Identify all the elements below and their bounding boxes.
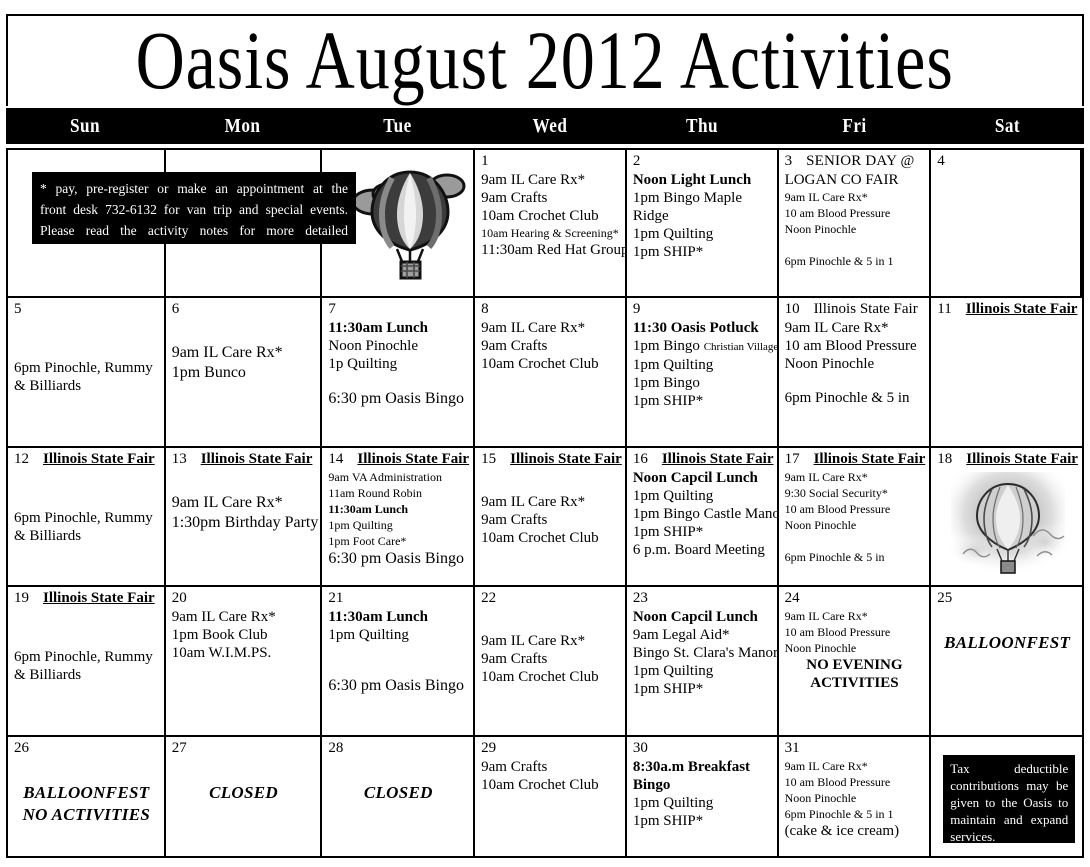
event-spacer — [328, 373, 468, 389]
day-cell-19[interactable]: 19 Illinois State Fair 6pm Pinochle, Rum… — [8, 587, 166, 735]
day-cell-28[interactable]: 28 CLOSED — [322, 737, 475, 856]
day-number: 30 — [633, 740, 648, 757]
day-events-list: BALLOONFEST NO ACTIVITIES — [14, 782, 159, 826]
day-cell-30[interactable]: 30 8:30a.m Breakfast Bingo 1pm Quilting … — [627, 737, 779, 856]
day-events-list: 11:30 Oasis Potluck 1pm Bingo Christian … — [633, 319, 772, 410]
event-item: 10am Crochet Club — [481, 207, 620, 225]
day-number: 20 — [172, 590, 187, 607]
day-events-list: CLOSED — [328, 782, 468, 804]
day-cell-25[interactable]: 25 BALLOONFEST — [931, 587, 1082, 735]
calendar-grid: 1 9am IL Care Rx* 9am Crafts 10am Croche… — [6, 148, 1084, 858]
event-item: 1pm Bingo — [633, 374, 772, 392]
day-events-list: 6pm Pinochle, Rummy & Billiards — [14, 648, 159, 684]
event-item: 9am VA Administration — [328, 469, 468, 485]
day-events-list: 8:30a.m Breakfast Bingo 1pm Quilting 1pm… — [633, 758, 772, 830]
event-spacer — [328, 644, 468, 660]
day-events-list: 11:30am Lunch 1pm Quilting 6:30 pm Oasis… — [328, 608, 468, 696]
note-line: front desk 732-6132 for van trip and spe… — [40, 199, 348, 220]
event-item: 9am IL Care Rx* — [785, 319, 925, 337]
event-text-bingo: 1pm Bingo — [633, 338, 704, 354]
hot-air-balloon-sketch-icon — [945, 468, 1071, 580]
event-item: 9am Crafts — [481, 511, 620, 529]
event-text-venue: Christian Village — [704, 341, 779, 353]
event-item: 6pm Pinochle, Rummy — [14, 509, 159, 527]
calendar-week-row: 26 BALLOONFEST NO ACTIVITIES 27 CLOSED — [8, 737, 1082, 856]
day-number: 9 — [633, 301, 641, 318]
day-headline: Illinois State Fair — [966, 301, 1078, 318]
day-events-list: 9am IL Care Rx* 1pm Bunco — [172, 343, 316, 383]
tax-note-line: Tax deductible — [950, 760, 1068, 777]
day-events-list: CLOSED — [172, 782, 316, 804]
day-number: 16 — [633, 451, 648, 468]
day-events-list: Noon Capcil Lunch 9am Legal Aid* Bingo S… — [633, 608, 772, 698]
weekday-header-thu: Thu — [637, 108, 768, 144]
event-item: 11:30am Lunch — [328, 319, 468, 337]
weekday-header-sun: Sun — [17, 108, 153, 144]
tax-note-line: maintain and expand — [950, 811, 1068, 828]
event-item: 9am IL Care Rx* — [481, 632, 620, 650]
day-headline: Illinois State Fair — [814, 451, 926, 468]
day-number: 8 — [481, 301, 489, 318]
tax-note-line: contributions may be — [950, 777, 1068, 794]
day-events-list: 9am VA Administration 11am Round Robin 1… — [328, 469, 468, 569]
weekday-header-mon: Mon — [175, 108, 310, 144]
event-item: 9am IL Care Rx* — [481, 493, 620, 511]
day-headline: Illinois State Fair — [510, 451, 622, 468]
event-item: 1pm Bunco — [172, 363, 316, 383]
event-item: 6:30 pm Oasis Bingo — [328, 676, 468, 696]
tax-note-line: given to the Oasis to — [950, 794, 1068, 811]
day-events-list: 9am IL Care Rx* 1pm Book Club 10am W.I.M… — [172, 608, 316, 662]
day-cell-11[interactable]: 11 Illinois State Fair — [931, 298, 1082, 446]
day-number: 23 — [633, 590, 648, 607]
weekday-header-row: Sun Mon Tue Wed Thu Fri Sat — [6, 108, 1084, 144]
event-item: 1pm Quilting — [633, 356, 772, 374]
weekday-header-sat: Sat — [942, 108, 1074, 144]
day-cell-6[interactable]: 6 9am IL Care Rx* 1pm Bunco — [166, 298, 323, 446]
event-item: (cake & ice cream) — [785, 822, 925, 840]
event-item: Noon Pinochle — [785, 517, 925, 533]
event-item: Noon Capcil Lunch — [633, 469, 772, 487]
event-item: 9am Crafts — [481, 189, 620, 207]
event-item: 6pm Pinochle, Rummy — [14, 359, 159, 377]
day-number: 1 — [481, 153, 489, 170]
event-item: 1:30pm Birthday Party — [172, 513, 316, 533]
day-cell-2[interactable]: 2 Noon Light Lunch 1pm Bingo Maple Ridge… — [627, 150, 779, 296]
day-cell-9[interactable]: 9 11:30 Oasis Potluck 1pm Bingo Christia… — [627, 298, 779, 446]
event-item: 11:30am Lunch — [328, 608, 468, 626]
day-events-list: 9am Crafts 10am Crochet Club — [481, 758, 620, 794]
day-events-list: 9am IL Care Rx* 10 am Blood Pressure Noo… — [785, 189, 925, 269]
event-item: BALLOONFEST — [937, 632, 1077, 654]
calendar-title-banner: Oasis August 2012 Activities — [6, 14, 1084, 106]
event-item: 9am IL Care Rx* — [785, 608, 925, 624]
event-item: 10 am Blood Pressure — [785, 774, 925, 790]
day-number: 24 — [785, 590, 800, 607]
event-item: 9am IL Care Rx* — [785, 189, 925, 205]
day-events-list: 9am IL Care Rx* 9:30 Social Security* 10… — [785, 469, 925, 565]
event-item: 11:30am Lunch — [328, 501, 468, 517]
tax-note-box: Tax deductible contributions may be give… — [943, 755, 1075, 843]
day-cell-21[interactable]: 21 11:30am Lunch 1pm Quilting 6:30 pm Oa… — [322, 587, 475, 735]
event-spacer — [328, 660, 468, 676]
weekday-header-fri: Fri — [789, 108, 921, 144]
day-number: 14 — [328, 451, 343, 468]
weekday-header-tue: Tue — [332, 108, 464, 144]
event-item: 10am Crochet Club — [481, 776, 620, 794]
event-item: 1pm SHIP* — [633, 392, 772, 410]
event-item: 9am IL Care Rx* — [172, 608, 316, 626]
day-headline: Illinois State Fair — [814, 301, 918, 318]
event-spacer — [785, 373, 925, 389]
event-item: 1pm Quilting — [328, 517, 468, 533]
day-cell-18[interactable]: 18 Illinois State Fair — [931, 448, 1082, 585]
day-number: 19 — [14, 590, 29, 607]
event-item: 1pm Book Club — [172, 626, 316, 644]
day-cell-13[interactable]: 13 Illinois State Fair 9am IL Care Rx* 1… — [166, 448, 323, 585]
day-events-list: 9am IL Care Rx* 10 am Blood Pressure Noo… — [785, 319, 925, 407]
day-events-list: Noon Light Lunch 1pm Bingo Maple Ridge 1… — [633, 171, 772, 261]
day-events-list: 9am IL Care Rx* 9am Crafts 10am Crochet … — [481, 493, 620, 547]
day-headline: Illinois State Fair — [201, 451, 313, 468]
day-cell-16[interactable]: 16 Illinois State Fair Noon Capcil Lunch… — [627, 448, 779, 585]
event-item: 6:30 pm Oasis Bingo — [328, 389, 468, 409]
day-cell-empty-post[interactable]: Tax deductible contributions may be give… — [931, 737, 1082, 856]
calendar-page: Oasis August 2012 Activities Sun Mon Tue… — [0, 0, 1090, 867]
day-number: 29 — [481, 740, 496, 757]
hot-air-balloon-icon — [351, 162, 469, 282]
day-headline: Illinois State Fair — [43, 590, 155, 607]
event-item: 6pm Pinochle & 5 in 1 — [785, 806, 925, 822]
day-number: 7 — [328, 301, 336, 318]
day-number: 10 — [785, 301, 800, 318]
event-item: 6pm Pinochle & 5 in — [785, 549, 925, 565]
day-cell-31[interactable]: 31 9am IL Care Rx* 10 am Blood Pressure … — [779, 737, 932, 856]
calendar-week-row: 19 Illinois State Fair 6pm Pinochle, Rum… — [8, 587, 1082, 737]
day-number: 22 — [481, 590, 496, 607]
event-item: Noon Pinochle — [328, 337, 468, 355]
tax-note-line: services. — [950, 828, 1068, 845]
event-item: 1pm Quilting — [328, 626, 468, 644]
event-item: 11:30 Oasis Potluck — [633, 319, 772, 337]
day-number: 25 — [937, 590, 952, 607]
day-events-list: Noon Capcil Lunch 1pm Quilting 1pm Bingo… — [633, 469, 772, 559]
day-number: 18 — [937, 451, 952, 468]
day-events-list: 9am IL Care Rx* 9am Crafts 10am Crochet … — [481, 171, 620, 259]
event-item: 10 am Blood Pressure — [785, 624, 925, 640]
weekday-header-wed: Wed — [485, 108, 616, 144]
day-headline: Illinois State Fair — [662, 451, 774, 468]
event-item: Noon Pinochle — [785, 640, 925, 656]
event-item: 9am IL Care Rx* — [481, 171, 620, 189]
event-item: 9am IL Care Rx* — [785, 469, 925, 485]
day-number: 2 — [633, 153, 641, 170]
event-item: BALLOONFEST — [14, 782, 159, 804]
day-number: 3 — [785, 153, 793, 170]
note-line: * pay, pre-register or make an appointme… — [40, 178, 348, 199]
event-item: 6pm Pinochle, Rummy — [14, 648, 159, 666]
event-item: CLOSED — [328, 782, 468, 804]
event-item: 10am Crochet Club — [481, 355, 620, 373]
day-number: 12 — [14, 451, 29, 468]
day-number: 13 — [172, 451, 187, 468]
event-item: 1pm Foot Care* — [328, 533, 468, 549]
event-item: 9am Crafts — [481, 758, 620, 776]
day-number: 15 — [481, 451, 496, 468]
day-cell-4[interactable]: 4 — [931, 150, 1082, 296]
day-cell-17[interactable]: 17 Illinois State Fair 9am IL Care Rx* 9… — [779, 448, 932, 585]
event-item: 10 am Blood Pressure — [785, 205, 925, 221]
day-cell-12[interactable]: 12 Illinois State Fair 6pm Pinochle, Rum… — [8, 448, 166, 585]
day-events-list: 6pm Pinochle, Rummy & Billiards — [14, 359, 159, 395]
calendar-week-row: 5 6pm Pinochle, Rummy & Billiards 6 9am … — [8, 298, 1082, 448]
event-item: 1pm Quilting — [633, 487, 772, 505]
event-item: 1pm Bingo Castle Manor — [633, 505, 772, 523]
day-cell-24[interactable]: 24 9am IL Care Rx* 10 am Blood Pressure … — [779, 587, 932, 735]
event-item: Ridge — [633, 207, 772, 225]
day-number: 6 — [172, 301, 180, 318]
event-item: 1pm Quilting — [633, 794, 772, 812]
event-spacer — [785, 533, 925, 549]
event-item: Noon Light Lunch — [633, 171, 772, 189]
day-events-list: BALLOONFEST — [937, 632, 1077, 654]
event-item: ACTIVITIES — [785, 674, 925, 692]
event-item: 9am Crafts — [481, 650, 620, 668]
event-spacer — [785, 237, 925, 253]
event-item: 9am IL Care Rx* — [172, 343, 316, 363]
calendar-week-row: 12 Illinois State Fair 6pm Pinochle, Rum… — [8, 448, 1082, 587]
day-number: 27 — [172, 740, 187, 757]
event-item: 6:30 pm Oasis Bingo — [328, 549, 468, 569]
event-item: 6pm Pinochle & 5 in 1 — [785, 253, 925, 269]
day-cell-26[interactable]: 26 BALLOONFEST NO ACTIVITIES — [8, 737, 166, 856]
event-item: NO ACTIVITIES — [14, 804, 159, 826]
calendar-week-row: 1 9am IL Care Rx* 9am Crafts 10am Croche… — [8, 150, 1082, 298]
day-events-list: 6pm Pinochle, Rummy & Billiards — [14, 509, 159, 545]
event-item: CLOSED — [172, 782, 316, 804]
day-headline: SENIOR DAY @ — [806, 153, 914, 170]
day-number: 28 — [328, 740, 343, 757]
page-title: Oasis August 2012 Activities — [136, 16, 954, 106]
event-item: & Billiards — [14, 377, 159, 395]
event-item: 11:30am Red Hat Group — [481, 241, 620, 259]
day-cell-20[interactable]: 20 9am IL Care Rx* 1pm Book Club 10am W.… — [166, 587, 323, 735]
event-item: 6pm Pinochle & 5 in — [785, 389, 925, 407]
event-item: 1pm Quilting — [633, 662, 772, 680]
day-cell-27[interactable]: 27 CLOSED — [166, 737, 323, 856]
event-item: 9am IL Care Rx* — [481, 319, 620, 337]
day-cell-5[interactable]: 5 6pm Pinochle, Rummy & Billiards — [8, 298, 166, 446]
event-item: 8:30a.m Breakfast — [633, 758, 772, 776]
event-item: 1pm Bingo Maple — [633, 189, 772, 207]
event-item: NO EVENING — [785, 656, 925, 674]
day-cell-22[interactable]: 22 9am IL Care Rx* 9am Crafts 10am Croch… — [475, 587, 627, 735]
day-headline: Illinois State Fair — [966, 451, 1078, 468]
event-item: 9am Crafts — [481, 337, 620, 355]
event-item: 1pm SHIP* — [633, 243, 772, 261]
day-cell-15[interactable]: 15 Illinois State Fair 9am IL Care Rx* 9… — [475, 448, 627, 585]
day-number: 5 — [14, 301, 22, 318]
event-item: 1pm Bingo Christian Village — [633, 337, 772, 356]
day-events-list: 9am IL Care Rx* 9am Crafts 10am Crochet … — [481, 319, 620, 373]
day-events-list: 9am IL Care Rx* 1:30pm Birthday Party — [172, 493, 316, 533]
day-events-list: 9am IL Care Rx* 9am Crafts 10am Crochet … — [481, 632, 620, 686]
event-item: 9am IL Care Rx* — [785, 758, 925, 774]
day-number: 11 — [937, 301, 951, 318]
event-item: 1pm SHIP* — [633, 812, 772, 830]
day-number: 31 — [785, 740, 800, 757]
day-cell-23[interactable]: 23 Noon Capcil Lunch 9am Legal Aid* Bing… — [627, 587, 779, 735]
day-cell-7[interactable]: 7 11:30am Lunch Noon Pinochle 1p Quiltin… — [322, 298, 475, 446]
day-number: 21 — [328, 590, 343, 607]
event-item: Noon Pinochle — [785, 221, 925, 237]
day-cell-29[interactable]: 29 9am Crafts 10am Crochet Club — [475, 737, 627, 856]
event-item: 1pm SHIP* — [633, 680, 772, 698]
day-number: 4 — [937, 153, 945, 170]
event-item: 10am Crochet Club — [481, 668, 620, 686]
day-headline-line2: LOGAN CO FAIR — [785, 171, 925, 189]
event-item: & Billiards — [14, 527, 159, 545]
event-item: Bingo — [633, 776, 772, 794]
event-item: Noon Pinochle — [785, 790, 925, 806]
day-cell-3[interactable]: 3 SENIOR DAY @ LOGAN CO FAIR 9am IL Care… — [779, 150, 932, 296]
day-events-list: 11:30am Lunch Noon Pinochle 1p Quilting … — [328, 319, 468, 409]
day-events-list: 9am IL Care Rx* 10 am Blood Pressure Noo… — [785, 758, 925, 840]
event-item: Noon Pinochle — [785, 355, 925, 373]
day-cell-10[interactable]: 10 Illinois State Fair 9am IL Care Rx* 1… — [779, 298, 932, 446]
event-item: 9am Legal Aid* — [633, 626, 772, 644]
event-item: 10am Crochet Club — [481, 529, 620, 547]
event-item: 10 am Blood Pressure — [785, 501, 925, 517]
event-item: 10am Hearing & Screening* — [481, 225, 620, 241]
event-item: 1pm SHIP* — [633, 523, 772, 541]
event-item: Bingo St. Clara's Manor — [633, 644, 772, 662]
event-item: 11am Round Robin — [328, 485, 468, 501]
day-number: 26 — [14, 740, 29, 757]
event-item: Noon Capcil Lunch — [633, 608, 772, 626]
event-item: 6 p.m. Board Meeting — [633, 541, 772, 559]
event-item: 10am W.I.M.PS. — [172, 644, 316, 662]
event-item: 1p Quilting — [328, 355, 468, 373]
event-item: 1pm Quilting — [633, 225, 772, 243]
note-line: Please read the activity notes for more … — [40, 220, 348, 241]
day-cell-14[interactable]: 14 Illinois State Fair 9am VA Administra… — [322, 448, 475, 585]
event-item: 10 am Blood Pressure — [785, 337, 925, 355]
day-headline: Illinois State Fair — [43, 451, 155, 468]
day-headline: Illinois State Fair — [357, 451, 469, 468]
day-cell-1[interactable]: 1 9am IL Care Rx* 9am Crafts 10am Croche… — [475, 150, 627, 296]
event-item: & Billiards — [14, 666, 159, 684]
event-item: 9am IL Care Rx* — [172, 493, 316, 513]
instructions-note-box: * pay, pre-register or make an appointme… — [32, 172, 356, 244]
day-events-list: 9am IL Care Rx* 10 am Blood Pressure Noo… — [785, 608, 925, 692]
day-number: 17 — [785, 451, 800, 468]
day-cell-8[interactable]: 8 9am IL Care Rx* 9am Crafts 10am Croche… — [475, 298, 627, 446]
event-item: 9:30 Social Security* — [785, 485, 925, 501]
